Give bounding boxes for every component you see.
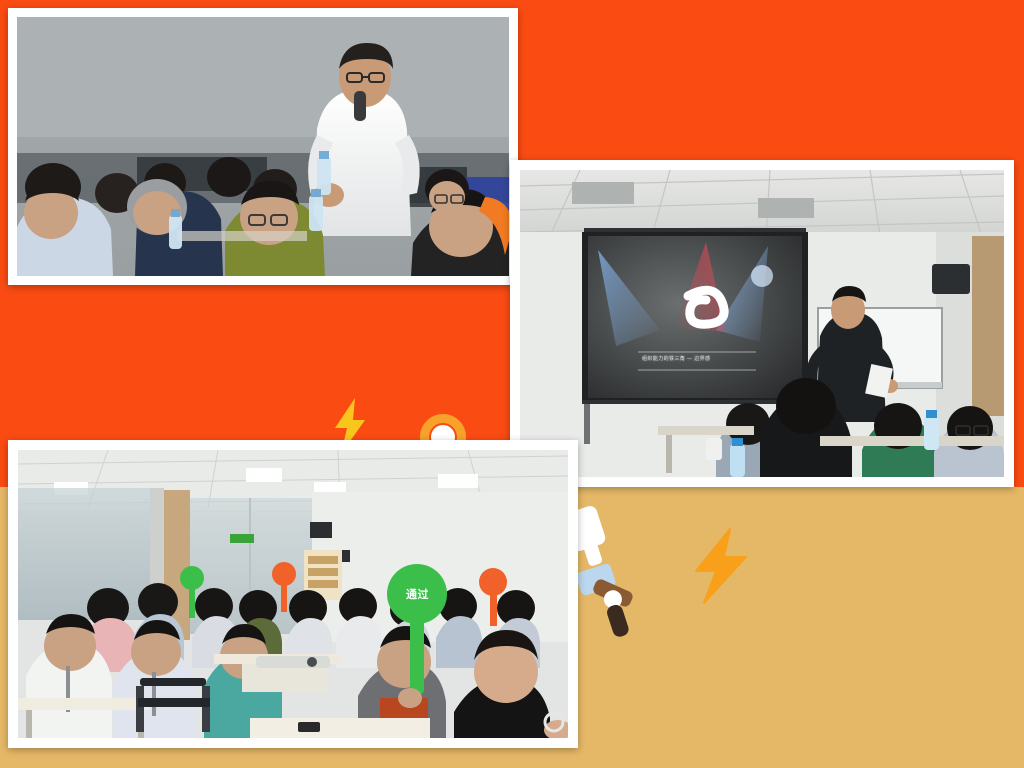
gavel-icon [570, 503, 636, 641]
photo-2-image: 组织能力的铁三角 — 边界感 [520, 170, 1004, 477]
photo-speaker-with-microphone[interactable] [8, 8, 518, 285]
lightning-bolt-large-icon [690, 527, 752, 605]
photo-classroom-presentation[interactable]: 组织能力的铁三角 — 边界感 [510, 160, 1014, 487]
photo-audience-voting-paddles[interactable]: 通过 [8, 440, 578, 748]
projected-slide-caption: 组织能力的铁三角 — 边界感 [642, 355, 710, 362]
presentation-slide: 组织能力的铁三角 — 边界感 [0, 0, 1024, 768]
photo-1-image [17, 17, 509, 276]
voting-paddle-label-pass: 通过 [406, 586, 429, 602]
photo-3-image: 通过 [18, 450, 568, 738]
